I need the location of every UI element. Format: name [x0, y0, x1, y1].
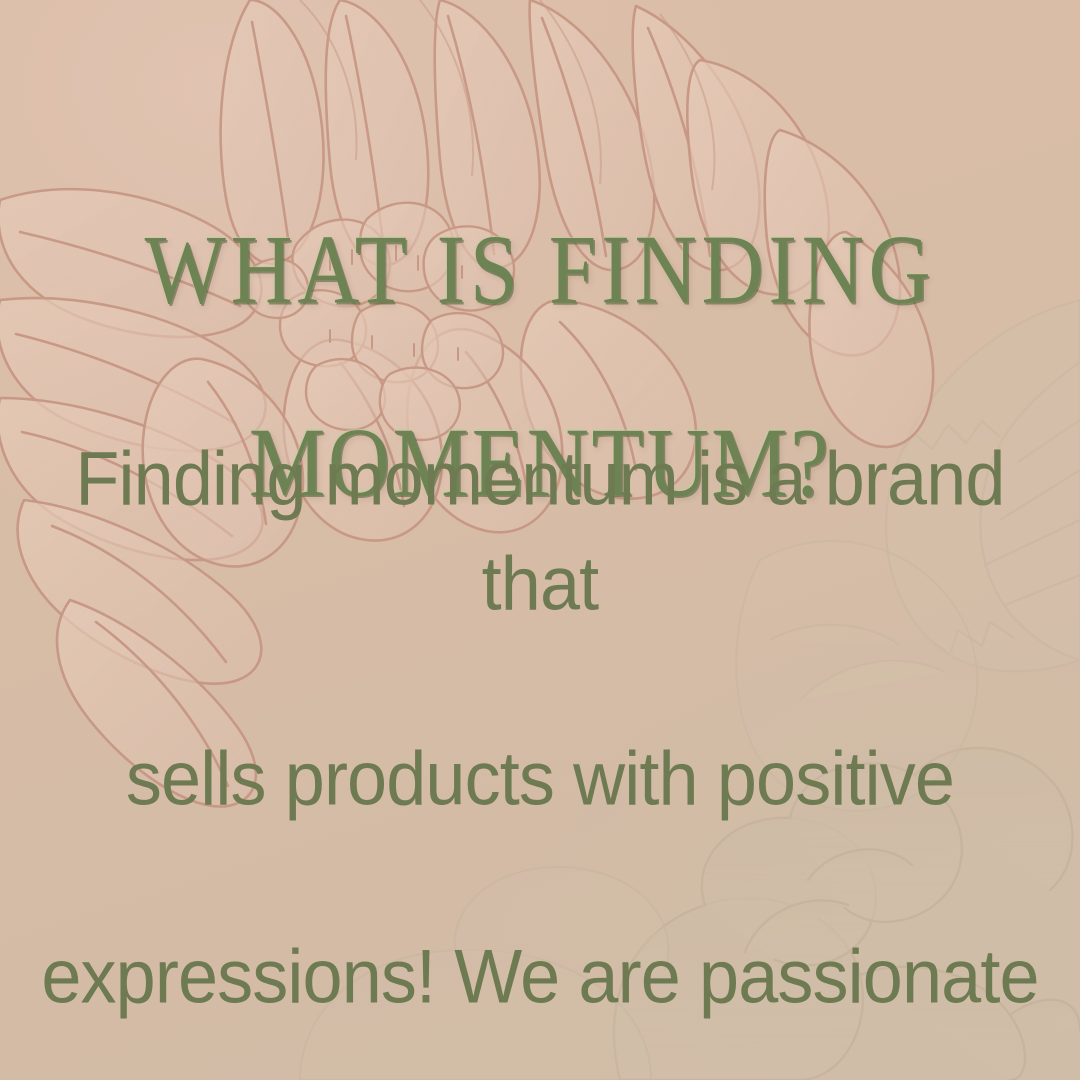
post-content: WHAT IS FINDING MOMENTUM? Finding moment…	[0, 0, 1080, 1080]
body-paragraph: Finding momentum is a brand that sells p…	[28, 334, 1052, 1080]
social-post-canvas: WHAT IS FINDING MOMENTUM? Finding moment…	[0, 0, 1080, 1080]
body-line: sells products with positive	[28, 727, 1052, 832]
body-line: Finding momentum is a brand that	[28, 427, 1052, 637]
page-title-line-1: WHAT IS FINDING	[0, 222, 1080, 318]
body-line: expressions! We are passionate	[28, 925, 1052, 1030]
